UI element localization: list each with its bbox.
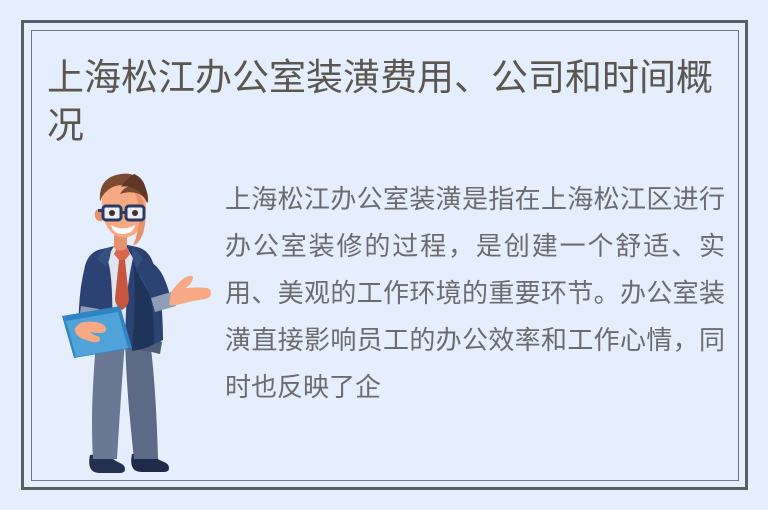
- trouser-right-shape: [125, 341, 158, 459]
- article-body: 上海松江办公室装潢是指在上海松江区进行办公室装修的过程，是创建一个舒适、实用、美…: [225, 176, 725, 411]
- hand-right-shape: [169, 276, 211, 306]
- page-title: 上海松江办公室装潢费用、公司和时间概况: [47, 54, 729, 150]
- article-card: 上海松江办公室装潢费用、公司和时间概况: [0, 0, 768, 510]
- eye-left-shape: [109, 210, 115, 216]
- trouser-left-shape: [92, 341, 125, 459]
- businessman-illustration: [62, 166, 214, 482]
- eye-right-shape: [132, 210, 138, 216]
